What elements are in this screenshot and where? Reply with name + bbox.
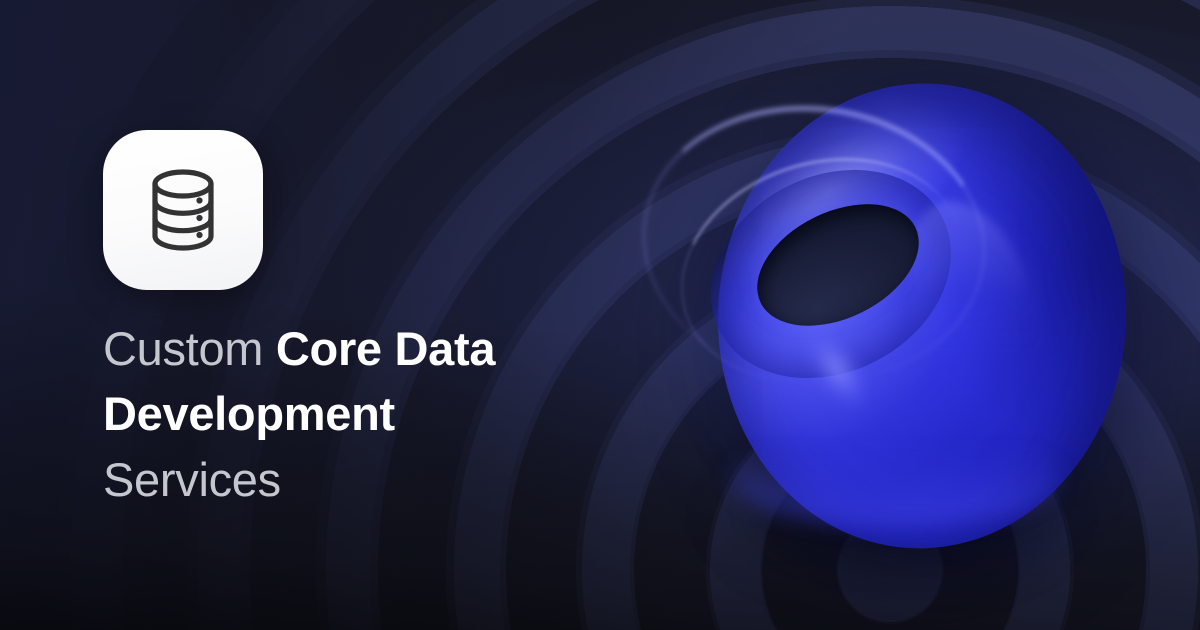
torus-bottom-sheen [730,430,1060,526]
page-title: Custom Core Data Development Services [103,316,663,512]
database-icon [103,130,263,290]
headline-line-3: Services [103,447,663,512]
content-block: Custom Core Data Development Services [103,130,663,512]
headline-bold-core-data: Core Data [276,322,495,375]
og-banner: Custom Core Data Development Services [0,0,1200,630]
torus-graphic [612,78,1152,548]
headline-bold-development: Development [103,387,395,440]
headline-light-prefix: Custom [103,322,276,375]
headline-light-services: Services [103,453,281,506]
headline-line-1: Custom Core Data [103,316,663,381]
headline-line-2: Development [103,381,663,446]
